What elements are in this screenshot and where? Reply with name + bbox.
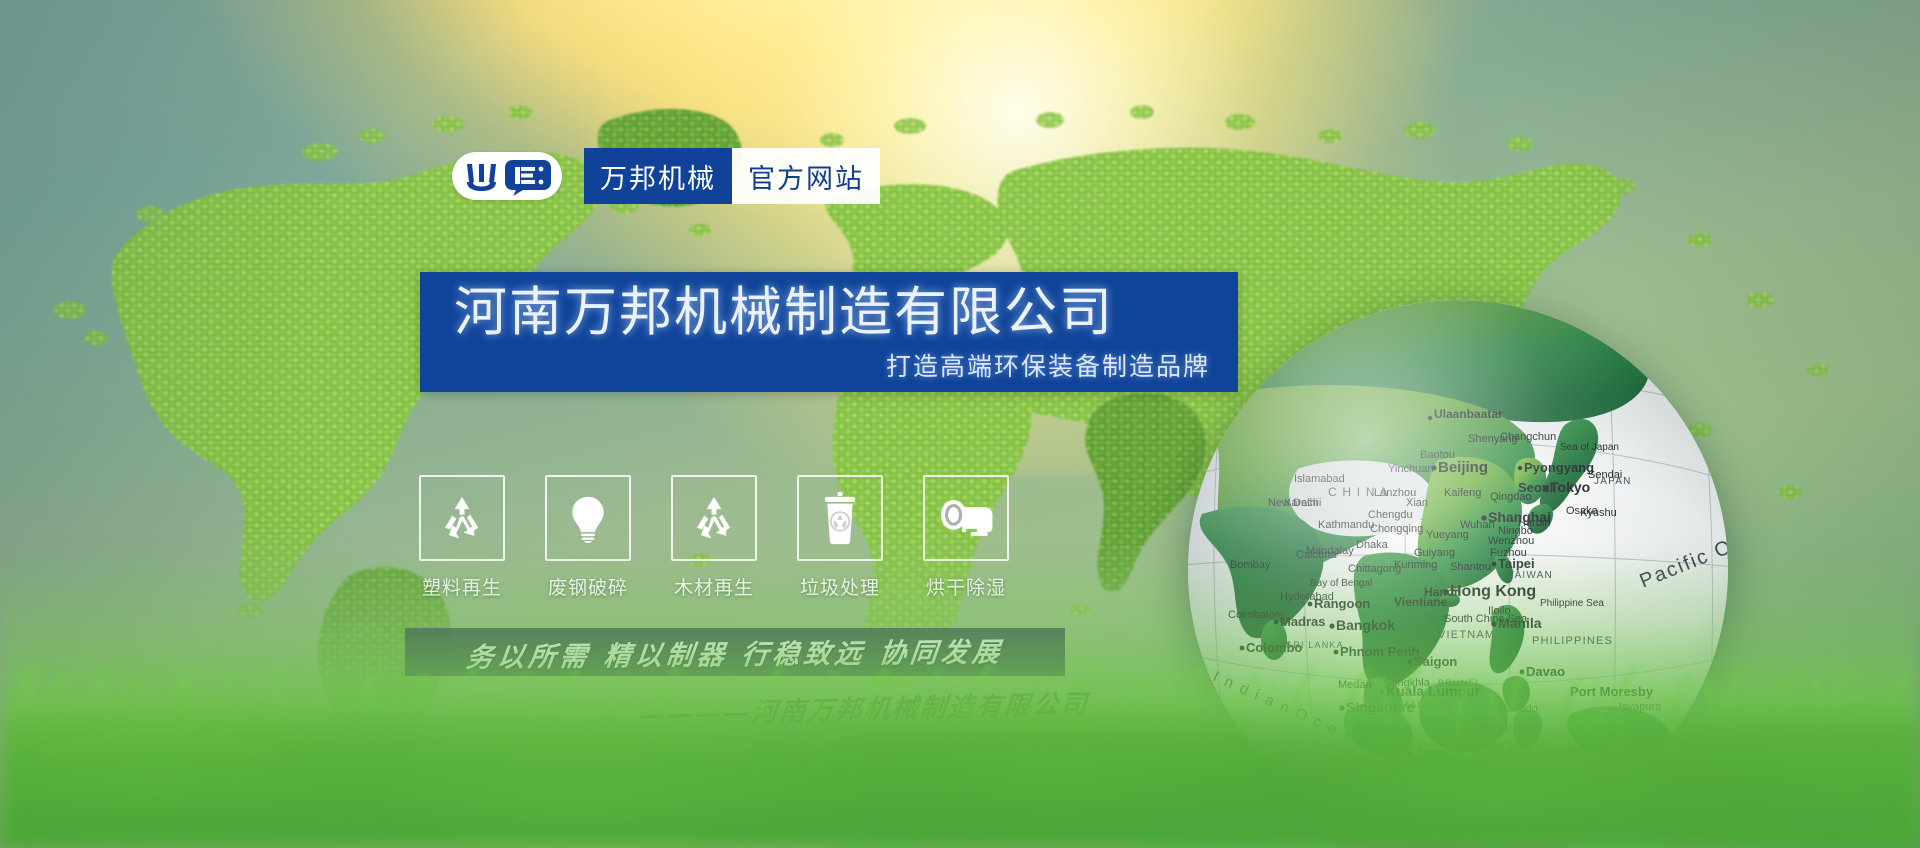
svg-text:Pyongyang: Pyongyang (1524, 460, 1594, 475)
svg-text:Qingdao: Qingdao (1490, 491, 1532, 503)
svg-text:Sea of Japan: Sea of Japan (1560, 442, 1619, 453)
svg-text:Tokyo: Tokyo (1550, 479, 1590, 495)
svg-text:Chengdu: Chengdu (1368, 509, 1413, 521)
svg-text:Baotou: Baotou (1420, 449, 1455, 461)
svg-text:Islamabad: Islamabad (1294, 473, 1345, 485)
svg-text:JAPAN: JAPAN (1594, 476, 1632, 487)
dryer-machine-icon (938, 497, 994, 539)
logo-w-glyph (467, 164, 496, 191)
svg-text:Kaifeng: Kaifeng (1444, 487, 1481, 499)
company-title: 河南万邦机械制造有限公司 (454, 280, 1114, 346)
brand-name: 万邦机械 (584, 148, 732, 204)
svg-text:Kyushu: Kyushu (1580, 507, 1617, 519)
grass-foreground-shadow (0, 698, 1920, 848)
company-logo-icon[interactable] (452, 152, 562, 200)
company-banner: 河南万邦机械制造有限公司 打造高端环保装备制造品牌 (420, 272, 1238, 392)
svg-text:Yinchuan: Yinchuan (1388, 463, 1433, 475)
lightbulb-icon (563, 492, 613, 544)
company-tagline: 打造高端环保装备制造品牌 (886, 351, 1210, 383)
logo-b-glyph (505, 160, 551, 196)
recycle-icon (688, 492, 740, 544)
svg-text:Shenyang: Shenyang (1468, 433, 1518, 445)
svg-text:Yueyang: Yueyang (1426, 529, 1469, 541)
svg-text:Kathmandu: Kathmandu (1318, 519, 1374, 531)
hero-banner-page: Pacific Ocean I n d i a n O c e a n Hong… (0, 0, 1920, 848)
brand-suffix: 官方网站 (732, 148, 880, 204)
trash-bin-icon (819, 491, 861, 545)
recycle-icon (436, 492, 488, 544)
svg-text:Ulaanbaatar: Ulaanbaatar (1434, 407, 1503, 421)
brand-header: 万邦机械 官方网站 (452, 148, 880, 204)
svg-text:Wenzhou: Wenzhou (1488, 535, 1534, 547)
svg-text:Beijing: Beijing (1438, 459, 1488, 476)
svg-text:Harbin: Harbin (1518, 517, 1550, 529)
svg-text:C H I N A: C H I N A (1328, 485, 1389, 499)
svg-text:Chongqing: Chongqing (1370, 523, 1423, 535)
svg-text:Karachi: Karachi (1284, 497, 1321, 509)
